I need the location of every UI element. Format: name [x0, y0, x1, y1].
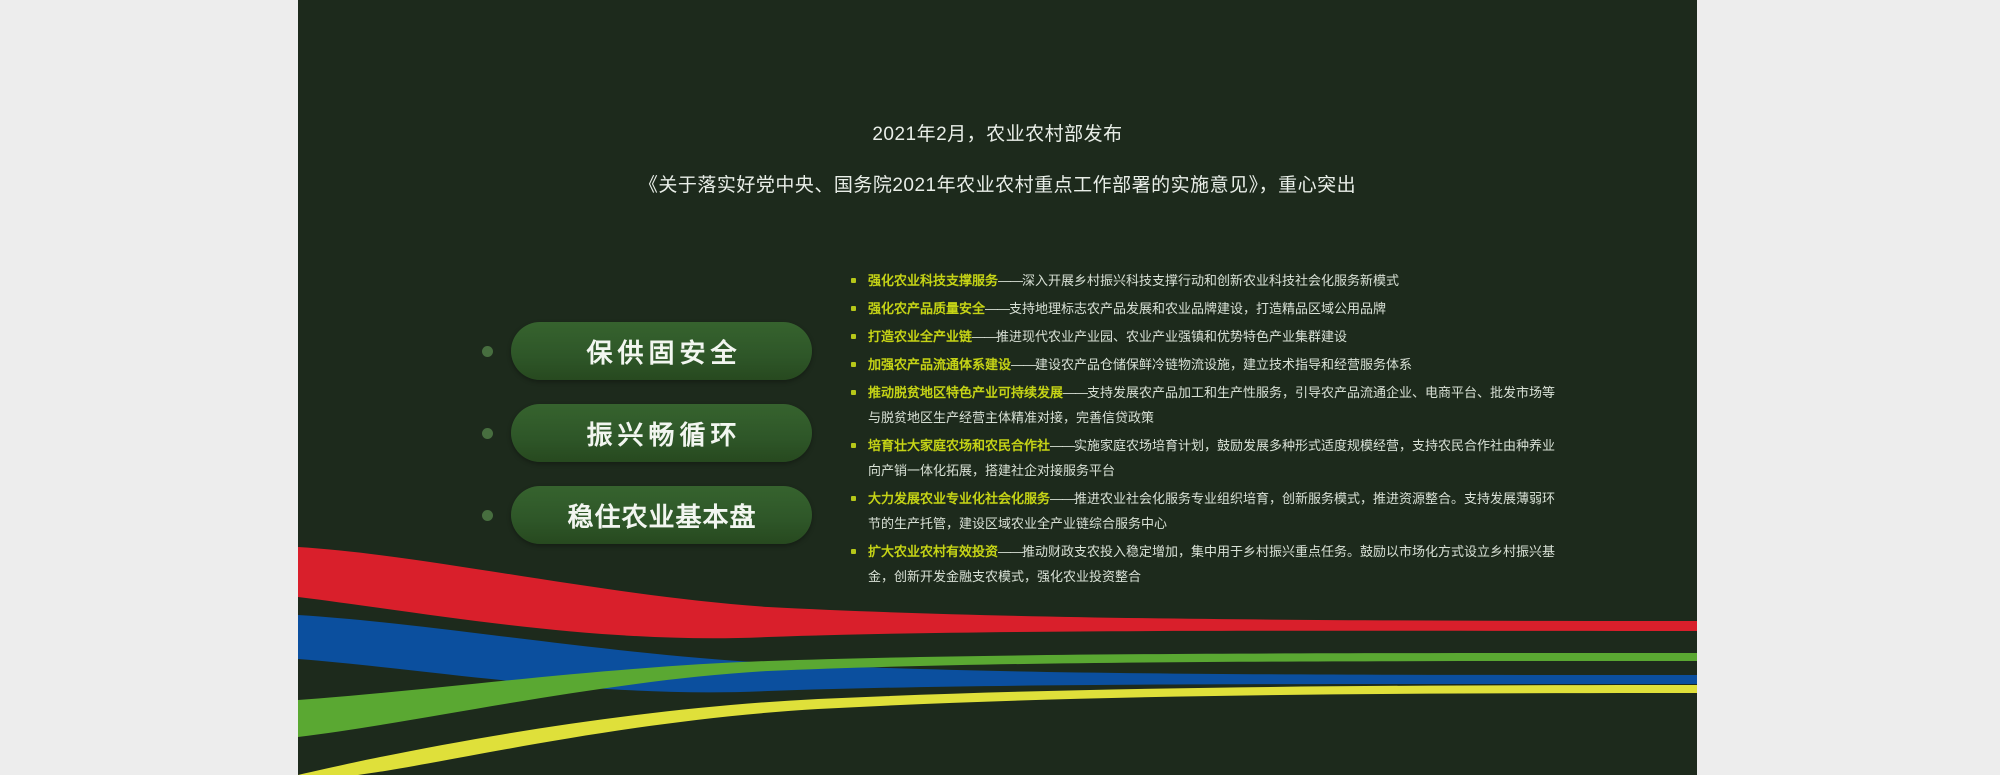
bullet-keyword: 培育壮大家庭农场和农民合作社: [868, 438, 1050, 453]
slide-panel: 2021年2月，农业农村部发布 《关于落实好党中央、国务院2021年农业农村重点…: [298, 0, 1697, 775]
pill-button-2[interactable]: 振兴畅循环: [511, 404, 812, 462]
bullet-dash: ——: [1063, 385, 1087, 400]
list-item: 强化农业科技支撑服务——深入开展乡村振兴科技支撑行动和创新农业科技社会化服务新模…: [848, 268, 1568, 293]
pill-button-3[interactable]: 稳住农业基本盘: [511, 486, 812, 544]
bullet-square-icon: [851, 390, 856, 395]
bullet-body: 支持地理标志农产品发展和农业品牌建设，打造精品区域公用品牌: [1009, 301, 1386, 316]
pill-bullet-dot-icon: [482, 346, 493, 357]
pill-bullet-dot-icon: [482, 428, 493, 439]
pill-column: 保供固安全 振兴畅循环 稳住农业基本盘: [482, 320, 812, 546]
pill-row: 保供固安全: [482, 320, 812, 382]
bullet-body: 推进现代农业产业园、农业产业强镇和优势特色产业集群建设: [996, 329, 1347, 344]
list-item: 培育壮大家庭农场和农民合作社——实施家庭农场培育计划，鼓励发展多种形式适度规模经…: [848, 433, 1568, 483]
list-item: 扩大农业农村有效投资——推动财政支农投入稳定增加，集中用于乡村振兴重点任务。鼓励…: [848, 539, 1568, 589]
bullet-dash: ——: [1011, 357, 1035, 372]
bullet-keyword: 打造农业全产业链: [868, 329, 972, 344]
list-item: 打造农业全产业链——推进现代农业产业园、农业产业强镇和优势特色产业集群建设: [848, 324, 1568, 349]
bullet-keyword: 推动脱贫地区特色产业可持续发展: [868, 385, 1063, 400]
title-block: 2021年2月，农业农村部发布 《关于落实好党中央、国务院2021年农业农村重点…: [298, 118, 1697, 203]
bullet-dash: ——: [1050, 491, 1074, 506]
list-item: 推动脱贫地区特色产业可持续发展——支持发展农产品加工和生产性服务，引导农产品流通…: [848, 380, 1568, 430]
bullet-keyword: 大力发展农业专业化社会化服务: [868, 491, 1050, 506]
slide-root: 2021年2月，农业农村部发布 《关于落实好党中央、国务院2021年农业农村重点…: [0, 0, 2000, 775]
pill-bullet-dot-icon: [482, 510, 493, 521]
list-item: 大力发展农业专业化社会化服务——推进农业社会化服务专业组织培育，创新服务模式，推…: [848, 486, 1568, 536]
bullet-body: 建设农产品仓储保鲜冷链物流设施，建立技术指导和经营服务体系: [1035, 357, 1412, 372]
bullet-square-icon: [851, 278, 856, 283]
bullet-keyword: 扩大农业农村有效投资: [868, 544, 998, 559]
pill-row: 振兴畅循环: [482, 402, 812, 464]
ribbon-blue-band: [298, 615, 1697, 692]
bullet-list: 强化农业科技支撑服务——深入开展乡村振兴科技支撑行动和创新农业科技社会化服务新模…: [848, 268, 1568, 592]
list-item: 加强农产品流通体系建设——建设农产品仓储保鲜冷链物流设施，建立技术指导和经营服务…: [848, 352, 1568, 377]
bullet-square-icon: [851, 306, 856, 311]
bullet-dash: ——: [998, 273, 1022, 288]
bullet-square-icon: [851, 334, 856, 339]
bullet-dash: ——: [972, 329, 996, 344]
bullet-keyword: 加强农产品流通体系建设: [868, 357, 1011, 372]
bullet-square-icon: [851, 496, 856, 501]
bullet-square-icon: [851, 443, 856, 448]
ribbon-yellow-band: [298, 685, 1697, 775]
ribbon-green-band: [298, 653, 1697, 737]
title-line-primary: 2021年2月，农业农村部发布: [298, 118, 1697, 152]
pill-row: 稳住农业基本盘: [482, 484, 812, 546]
title-line-secondary: 《关于落实好党中央、国务院2021年农业农村重点工作部署的实施意见》，重心突出: [298, 169, 1697, 203]
pill-button-1[interactable]: 保供固安全: [511, 322, 812, 380]
list-item: 强化农产品质量安全——支持地理标志农产品发展和农业品牌建设，打造精品区域公用品牌: [848, 296, 1568, 321]
bullet-dash: ——: [985, 301, 1009, 316]
bullet-keyword: 强化农产品质量安全: [868, 301, 985, 316]
bullet-dash: ——: [1050, 438, 1074, 453]
bullet-keyword: 强化农业科技支撑服务: [868, 273, 998, 288]
bullet-square-icon: [851, 362, 856, 367]
bullet-square-icon: [851, 549, 856, 554]
bullet-dash: ——: [998, 544, 1022, 559]
bullet-body: 深入开展乡村振兴科技支撑行动和创新农业科技社会化服务新模式: [1022, 273, 1399, 288]
